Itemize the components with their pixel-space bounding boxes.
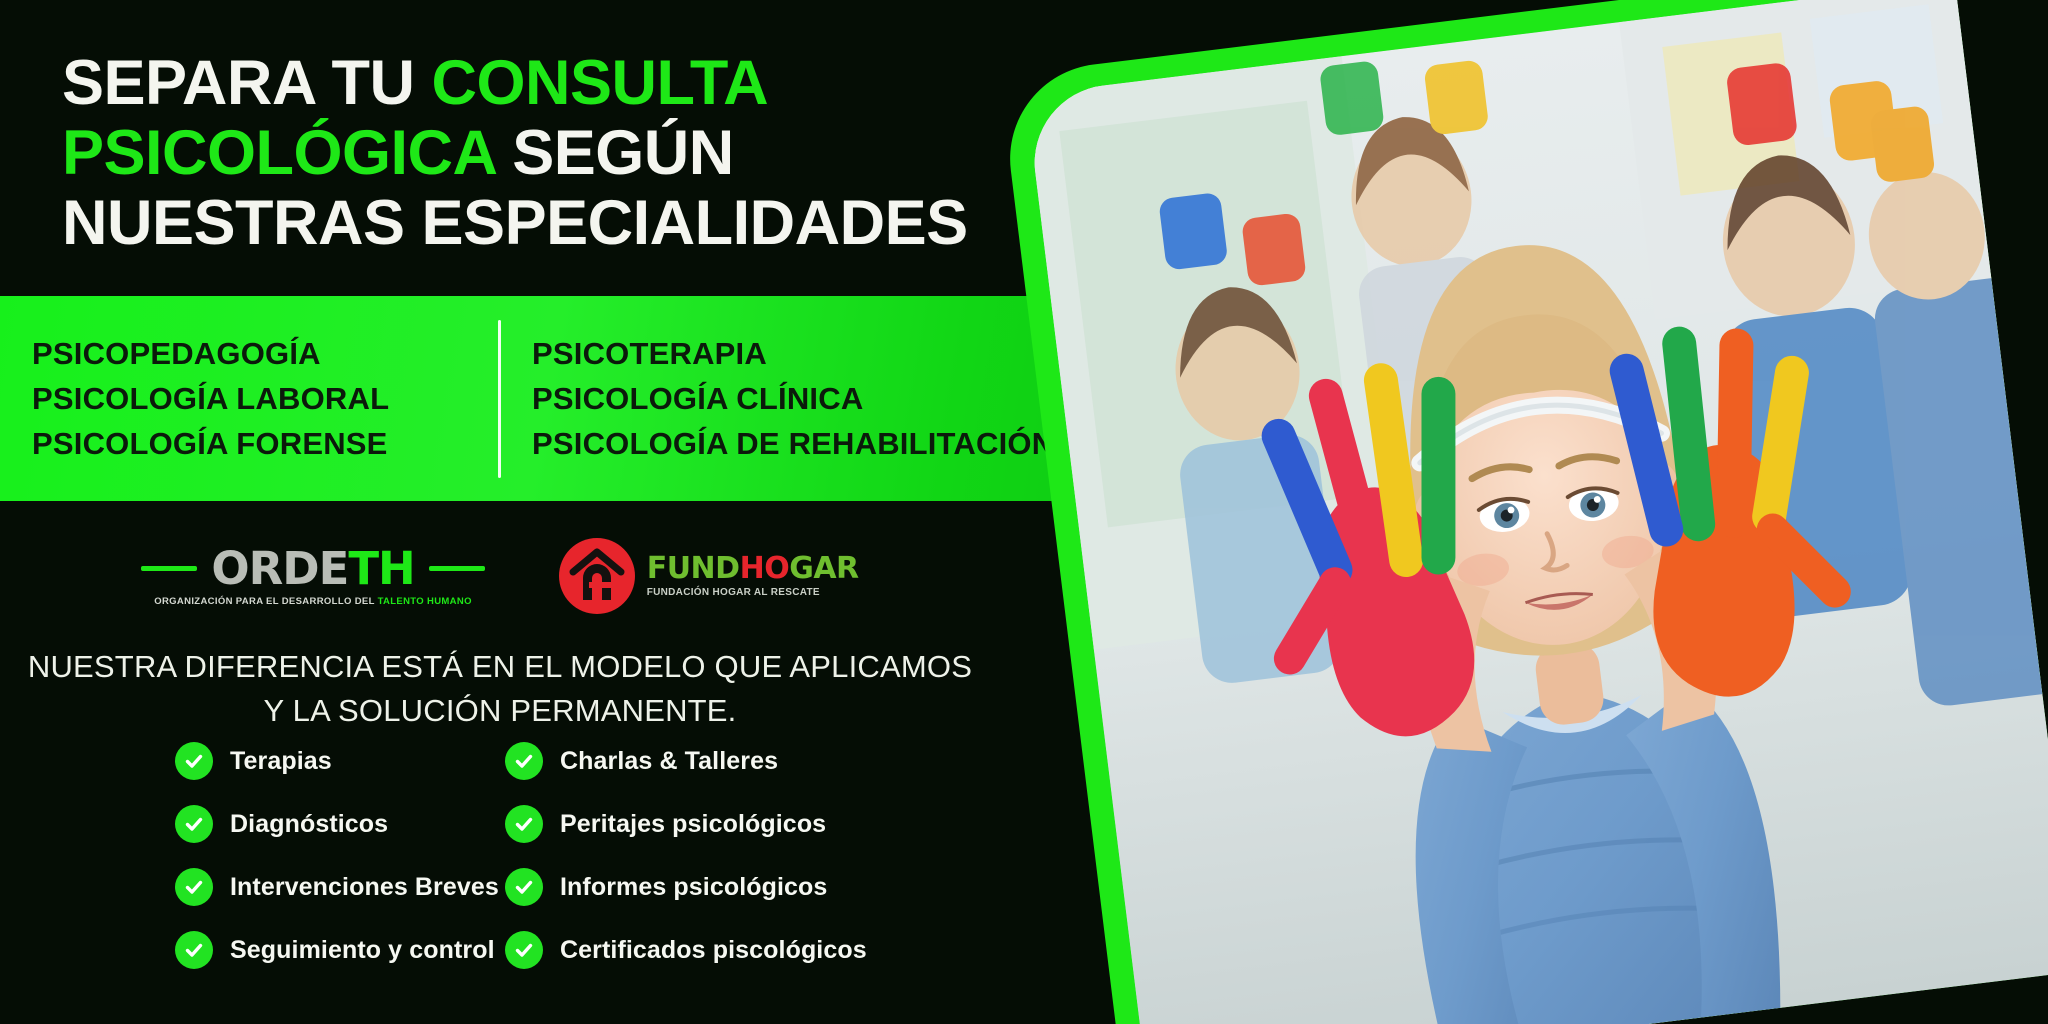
headline-line1-green: CONSULTA	[432, 48, 769, 118]
ordeth-tagline-white: ORGANIZACIÓN PARA EL DESARROLLO DEL	[154, 596, 377, 607]
check-icon	[175, 931, 213, 969]
dash-left-icon	[141, 566, 197, 571]
headline-line-2: PSICOLÓGICA SEGÚN	[62, 118, 1072, 188]
dash-right-icon	[429, 566, 485, 571]
services-left-column: Terapias Diagnósticos Intervenciones Bre…	[0, 742, 420, 1002]
check-icon	[505, 868, 543, 906]
fundhogar-tagline: FUNDACIÓN HOGAR AL RESCATE	[647, 587, 859, 598]
service-label: Terapias	[230, 747, 332, 776]
headline-line-1: SEPARA TU CONSULTA	[62, 48, 1072, 118]
tagline-line-2: Y LA SOLUCIÓN PERMANENTE.	[0, 689, 1000, 733]
service-label: Diagnósticos	[230, 810, 388, 839]
specialties-left-column: PSICOPEDAGOGÍA PSICOLOGÍA LABORAL PSICOL…	[0, 310, 500, 487]
service-label: Peritajes psicológicos	[560, 810, 826, 839]
services-right-column: Charlas & Talleres Peritajes psicológico…	[420, 742, 1010, 1002]
fundhogar-h: H	[740, 551, 765, 586]
headline-line1-white: SEPARA TU	[62, 48, 432, 118]
service-label: Charlas & Talleres	[560, 747, 778, 776]
headline-line2-white: SEGÚN	[512, 118, 734, 188]
photo-panel	[999, 0, 2048, 1024]
services-checklist: Terapias Diagnósticos Intervenciones Bre…	[0, 742, 1010, 1002]
service-label: Certificados piscológicos	[560, 936, 867, 965]
promotional-banner: SEPARA TU CONSULTA PSICOLÓGICA SEGÚN NUE…	[0, 0, 2048, 1024]
girl-with-painted-hands-photo	[1026, 0, 2048, 1024]
list-item: Intervenciones Breves	[175, 868, 420, 906]
specialty-item: PSICOLOGÍA FORENSE	[32, 428, 500, 459]
list-item: Charlas & Talleres	[505, 742, 1010, 780]
ordeth-tagline-green: TALENTO HUMANO	[378, 596, 472, 607]
fundhogar-part1: FUND	[647, 551, 740, 586]
list-item: Terapias	[175, 742, 420, 780]
service-label: Informes psicológicos	[560, 873, 827, 902]
check-icon	[505, 742, 543, 780]
check-icon	[175, 868, 213, 906]
vertical-divider	[498, 320, 501, 478]
ordeth-logo: ORDETH ORGANIZACIÓN PARA EL DESARROLLO D…	[141, 546, 484, 607]
logo-row: ORDETH ORGANIZACIÓN PARA EL DESARROLLO D…	[0, 530, 1000, 622]
house-icon	[559, 538, 635, 614]
fundhogar-o: O	[764, 551, 789, 586]
fundhogar-logo: FUNDHOGAR FUNDACIÓN HOGAR AL RESCATE	[559, 538, 859, 614]
check-icon	[175, 805, 213, 843]
ordeth-wordmark: ORDETH	[211, 546, 414, 591]
list-item: Seguimiento y control	[175, 931, 420, 969]
tagline-block: NUESTRA DIFERENCIA ESTÁ EN EL MODELO QUE…	[0, 645, 1000, 733]
check-icon	[175, 742, 213, 780]
check-icon	[505, 805, 543, 843]
list-item: Informes psicológicos	[505, 868, 1010, 906]
specialty-item: PSICOPEDAGOGÍA	[32, 338, 500, 369]
specialty-item: PSICOLOGÍA LABORAL	[32, 383, 500, 414]
check-icon	[505, 931, 543, 969]
list-item: Diagnósticos	[175, 805, 420, 843]
ordeth-name-gray: ORDE	[211, 542, 348, 595]
headline-line2-green: PSICOLÓGICA	[62, 118, 512, 188]
headline-line-3: NUESTRAS ESPECIALIDADES	[62, 188, 1072, 258]
tagline-line-1: NUESTRA DIFERENCIA ESTÁ EN EL MODELO QUE…	[0, 645, 1000, 689]
ordeth-name-green: TH	[348, 542, 414, 595]
page-title: SEPARA TU CONSULTA PSICOLÓGICA SEGÚN NUE…	[62, 48, 1072, 258]
fundhogar-wordmark: FUNDHOGAR	[647, 554, 859, 584]
list-item: Certificados piscológicos	[505, 931, 1010, 969]
fundhogar-part3: GAR	[789, 551, 858, 586]
ordeth-tagline: ORGANIZACIÓN PARA EL DESARROLLO DEL TALE…	[154, 596, 472, 607]
list-item: Peritajes psicológicos	[505, 805, 1010, 843]
